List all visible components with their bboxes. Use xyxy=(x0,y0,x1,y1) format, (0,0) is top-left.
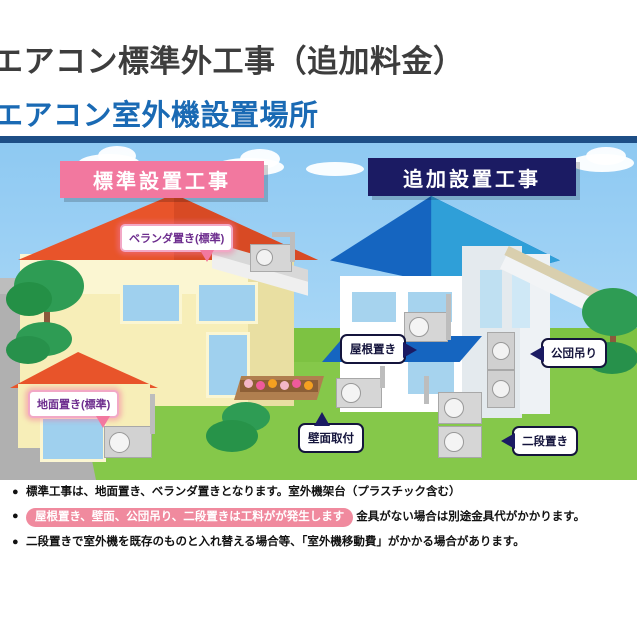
outdoor-unit-veranda-fan-icon xyxy=(256,249,273,266)
outdoor-unit-nidan-bottom-fan-icon xyxy=(444,432,464,452)
nidan-pipe xyxy=(424,376,429,404)
callout-tail xyxy=(501,433,515,449)
note-highlight: 屋根置き、壁面、公団吊り、二段置きは工料がが発生します xyxy=(26,508,353,527)
note-body: 金具がない場合は別途金具代がかかります。 xyxy=(356,511,585,523)
wall-unit-pipe xyxy=(380,366,385,388)
outdoor-unit-wall-fan-icon xyxy=(341,383,361,403)
page-subtitle: エアコン室外機設置場所 xyxy=(0,92,319,134)
callout-wall-mount: 壁面取付 xyxy=(298,423,364,453)
right-house-window xyxy=(352,292,396,322)
banner-standard-installation: 標準設置工事 xyxy=(60,161,264,198)
outdoor-unit-danchi-fan-icon xyxy=(492,342,510,360)
note-text: 屋根置き、壁面、公団吊り、二段置きは工料がが発生します金具がない場合は別途金具代… xyxy=(26,508,585,527)
cloud-icon xyxy=(306,162,364,176)
note-item: ● 二段置きで室外機を既存のものと入れ替える場合等、「室外機移動費」がかかる場合… xyxy=(0,534,637,551)
note-item: ● 標準工事は、地面置き、ベランダ置きとなります。室外機架台（プラスチック含む） xyxy=(0,484,637,501)
callout-tail xyxy=(200,250,214,262)
callout-veranda-label: ベランダ置き(標準) xyxy=(129,233,224,245)
bullet-icon: ● xyxy=(12,484,26,501)
flower-icon xyxy=(244,379,253,388)
outdoor-unit-nidan-top-fan-icon xyxy=(444,398,464,418)
callout-nidan-label: 二段置き xyxy=(522,436,568,448)
left-house-window xyxy=(120,282,182,324)
ground-unit-pipe xyxy=(150,394,155,434)
installation-diagram: 標準設置工事 追加設置工事 ベランダ置き(標準) 地面置き(標準) 屋根置き 公… xyxy=(0,136,637,480)
notes-list: ● 標準工事は、地面置き、ベランダ置きとなります。室外機架台（プラスチック含む）… xyxy=(0,484,637,558)
note-body: 標準工事は、地面置き、ベランダ置きとなります。室外機架台（プラスチック含む） xyxy=(26,486,460,498)
flower-icon xyxy=(268,379,277,388)
flower-icon xyxy=(280,381,289,390)
cloud-icon xyxy=(586,147,626,165)
roof-unit-pipe xyxy=(446,294,451,340)
callout-danchi-hanging: 公団吊り xyxy=(541,338,607,368)
right-house-window-side xyxy=(480,270,502,328)
callout-tail xyxy=(403,342,417,358)
outdoor-unit-ground-fan-icon xyxy=(109,432,130,453)
note-text: 標準工事は、地面置き、ベランダ置きとなります。室外機架台（プラスチック含む） xyxy=(26,484,460,501)
flower-icon xyxy=(304,381,313,390)
outdoor-unit-danchi-lower-fan-icon xyxy=(492,380,510,398)
bush-icon xyxy=(6,336,50,364)
veranda-pipe-bend xyxy=(272,232,295,237)
note-item: ● 屋根置き、壁面、公団吊り、二段置きは工料がが発生します金具がない場合は別途金… xyxy=(0,508,637,527)
callout-ground-label: 地面置き(標準) xyxy=(37,399,110,411)
callout-veranda-placement: ベランダ置き(標準) xyxy=(120,224,233,252)
callout-tail xyxy=(314,412,330,426)
right-house-window xyxy=(408,362,454,394)
bullet-icon: ● xyxy=(12,508,26,525)
tree-foliage-icon xyxy=(582,288,637,336)
callout-tail xyxy=(530,346,544,362)
callout-tail xyxy=(96,416,110,428)
callout-ground-placement: 地面置き(標準) xyxy=(28,390,119,418)
diagram-top-bar xyxy=(0,136,637,143)
bush-icon xyxy=(206,420,258,452)
bullet-icon: ● xyxy=(12,534,26,551)
callout-danchi-label: 公団吊り xyxy=(551,348,597,360)
flower-icon xyxy=(292,379,301,388)
outdoor-unit-roof-fan-icon xyxy=(409,317,429,337)
note-body: 二段置きで室外機を既存のものと入れ替える場合等、「室外機移動費」がかかる場合があ… xyxy=(26,536,525,548)
title-block: エアコン標準外工事（追加料金） エアコン室外機設置場所 xyxy=(0,0,637,138)
note-text: 二段置きで室外機を既存のものと入れ替える場合等、「室外機移動費」がかかる場合があ… xyxy=(26,534,525,551)
callout-wall-label: 壁面取付 xyxy=(308,433,354,445)
left-house-window xyxy=(196,282,258,324)
callout-roof-label: 屋根置き xyxy=(350,344,396,356)
banner-additional-installation: 追加設置工事 xyxy=(368,158,576,196)
flower-icon xyxy=(256,381,265,390)
page-title: エアコン標準外工事（追加料金） xyxy=(0,36,465,81)
callout-roof-placement: 屋根置き xyxy=(340,334,406,364)
callout-two-tier-placement: 二段置き xyxy=(512,426,578,456)
tree-foliage-icon xyxy=(6,282,52,316)
